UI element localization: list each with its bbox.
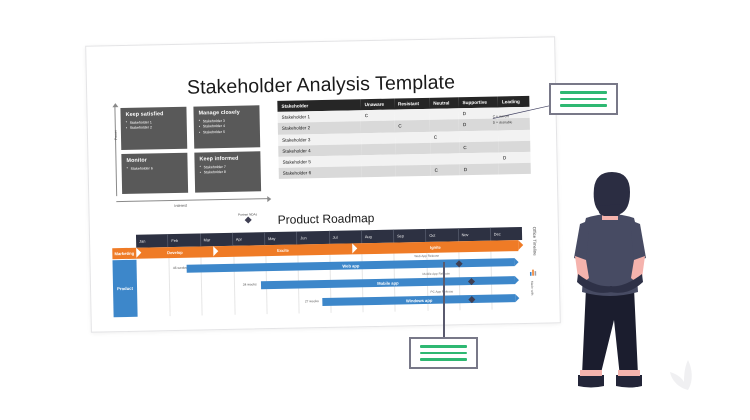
text-line bbox=[560, 91, 607, 94]
cell-leading bbox=[498, 129, 530, 141]
partner-ndas-milestone: Partner NDAs bbox=[222, 212, 274, 223]
cell-neutral bbox=[430, 142, 459, 154]
office-timeline-watermark: Office Timeline Made with bbox=[526, 227, 542, 313]
cell-unaware bbox=[362, 154, 396, 166]
text-line bbox=[420, 345, 467, 348]
month-cell: Jul bbox=[328, 230, 361, 244]
quadrant-title: Monitor bbox=[126, 157, 182, 164]
swimlane-label-marketing[interactable]: Marketing bbox=[112, 248, 136, 259]
cell-unaware bbox=[362, 166, 396, 178]
month-cell: Jan bbox=[136, 234, 168, 248]
cell-leading: D bbox=[499, 152, 531, 164]
month-cell: Mar bbox=[199, 233, 232, 247]
product-roadmap-gantt[interactable]: Product Roadmap Partner NDAs Jan Feb Mar… bbox=[111, 203, 543, 324]
quadrant-title: Keep informed bbox=[199, 155, 255, 162]
phase-develop[interactable]: Develop bbox=[136, 246, 213, 259]
stakeholder-power-interest-matrix: Power Interest Keep satisfied Stakeholde… bbox=[114, 103, 268, 202]
month-cell: Oct bbox=[425, 228, 458, 242]
milestone-label-web-app-release: Web App Release bbox=[414, 254, 439, 258]
cell-neutral: C bbox=[430, 164, 459, 176]
month-cell: May bbox=[264, 232, 297, 246]
cell-stakeholder: Stakeholder 6 bbox=[279, 166, 362, 179]
screenshot-canvas: Stakeholder Analysis Template Power Inte… bbox=[0, 0, 750, 420]
month-cell: Aug bbox=[361, 230, 394, 244]
task-bar-web-app[interactable]: Web app bbox=[187, 258, 515, 273]
list-item: Stakeholder 5 bbox=[199, 130, 255, 137]
cell-resistant bbox=[395, 154, 430, 166]
cell-neutral: C bbox=[430, 131, 459, 143]
presentation-slide[interactable]: Stakeholder Analysis Template Power Inte… bbox=[85, 36, 561, 332]
cell-leading bbox=[499, 141, 531, 153]
cell-neutral bbox=[429, 108, 458, 120]
month-cell: Dec bbox=[490, 227, 523, 241]
interest-axis-label: Interest bbox=[174, 204, 187, 208]
milestone-label-pc-app-release: PC App Release bbox=[430, 289, 453, 293]
cell-resistant bbox=[395, 143, 430, 155]
text-line bbox=[420, 358, 467, 361]
cell-resistant bbox=[395, 165, 430, 177]
milestone-label-mobile-app-release: Mobile App Release bbox=[422, 271, 450, 276]
quadrant-monitor[interactable]: Monitor Stakeholder 6 bbox=[121, 153, 188, 194]
legend-desirable: D = desirable bbox=[493, 120, 513, 126]
cell-resistant bbox=[395, 131, 430, 143]
cell-resistant: C bbox=[394, 120, 429, 132]
quadrant-list: Stakeholder 7 Stakeholder 8 bbox=[200, 164, 256, 177]
cell-supportive: C bbox=[459, 141, 499, 153]
power-axis bbox=[114, 106, 117, 196]
quadrant-list: Stakeholder 6 bbox=[127, 165, 183, 172]
swimlane-label-product[interactable]: Product bbox=[112, 260, 137, 317]
list-item: Stakeholder 6 bbox=[127, 165, 183, 172]
quadrant-title: Keep satisfied bbox=[126, 111, 182, 118]
column-header-resistant: Resistant bbox=[394, 98, 429, 110]
column-header-neutral: Neutral bbox=[429, 97, 458, 109]
quadrant-list: Stakeholder 3 Stakeholder 4 Stakeholder … bbox=[199, 118, 255, 137]
roadmap-title: Product Roadmap bbox=[278, 211, 375, 227]
power-axis-label: Power bbox=[114, 130, 118, 140]
cell-neutral bbox=[430, 120, 459, 132]
month-cell: Feb bbox=[167, 233, 200, 247]
cell-unaware bbox=[361, 132, 395, 144]
quadrant-keep-satisfied[interactable]: Keep satisfied Stakeholder 1 Stakeholder… bbox=[120, 107, 187, 150]
cell-supportive: D bbox=[460, 164, 500, 176]
cell-unaware bbox=[361, 143, 395, 155]
cell-supportive bbox=[460, 152, 500, 164]
text-line bbox=[560, 98, 607, 101]
quadrant-keep-informed[interactable]: Keep informed Stakeholder 7 Stakeholder … bbox=[194, 151, 261, 192]
quadrant-list: Stakeholder 1 Stakeholder 2 bbox=[126, 119, 182, 132]
task-duration: 46 weeks bbox=[137, 266, 187, 271]
month-cell: Sep bbox=[393, 229, 426, 243]
task-duration: 27 weeks bbox=[137, 299, 318, 307]
table-legend: C = current D = desirable bbox=[493, 114, 513, 126]
list-item: Stakeholder 8 bbox=[200, 170, 256, 177]
cell-unaware bbox=[361, 121, 395, 133]
quadrant-title: Manage closely bbox=[198, 109, 254, 116]
annotation-callout-top[interactable] bbox=[549, 83, 618, 115]
leaf-decoration-icon bbox=[662, 358, 702, 398]
task-bar-mobile-app[interactable]: Mobile app bbox=[260, 276, 515, 289]
watermark-subtitle: Made with bbox=[530, 281, 534, 296]
column-header-unaware: Unaware bbox=[360, 99, 394, 111]
text-line bbox=[560, 104, 607, 107]
interest-axis bbox=[116, 198, 268, 202]
cell-resistant bbox=[394, 109, 429, 121]
diamond-marker-icon bbox=[244, 216, 251, 223]
cell-unaware: C bbox=[361, 110, 395, 122]
cell-neutral bbox=[430, 153, 459, 165]
quadrant-manage-closely[interactable]: Manage closely Stakeholder 3 Stakeholder… bbox=[193, 105, 260, 148]
task-bar-windows-app[interactable]: Windows app bbox=[323, 294, 516, 306]
cell-supportive bbox=[459, 130, 499, 142]
watermark-title: Office Timeline bbox=[532, 227, 538, 256]
month-cell: Nov bbox=[457, 228, 490, 242]
task-duration: 34 weeks bbox=[137, 283, 257, 289]
annotation-callout-bottom[interactable] bbox=[409, 337, 478, 369]
month-cell: Apr bbox=[232, 232, 265, 246]
month-cell: Jun bbox=[296, 231, 329, 245]
list-item: Stakeholder 2 bbox=[126, 125, 182, 132]
cell-leading bbox=[499, 163, 531, 175]
callout-connector-bottom bbox=[443, 262, 445, 338]
text-line bbox=[420, 352, 467, 355]
person-illustration bbox=[556, 170, 666, 400]
office-timeline-logo-icon bbox=[530, 269, 538, 276]
